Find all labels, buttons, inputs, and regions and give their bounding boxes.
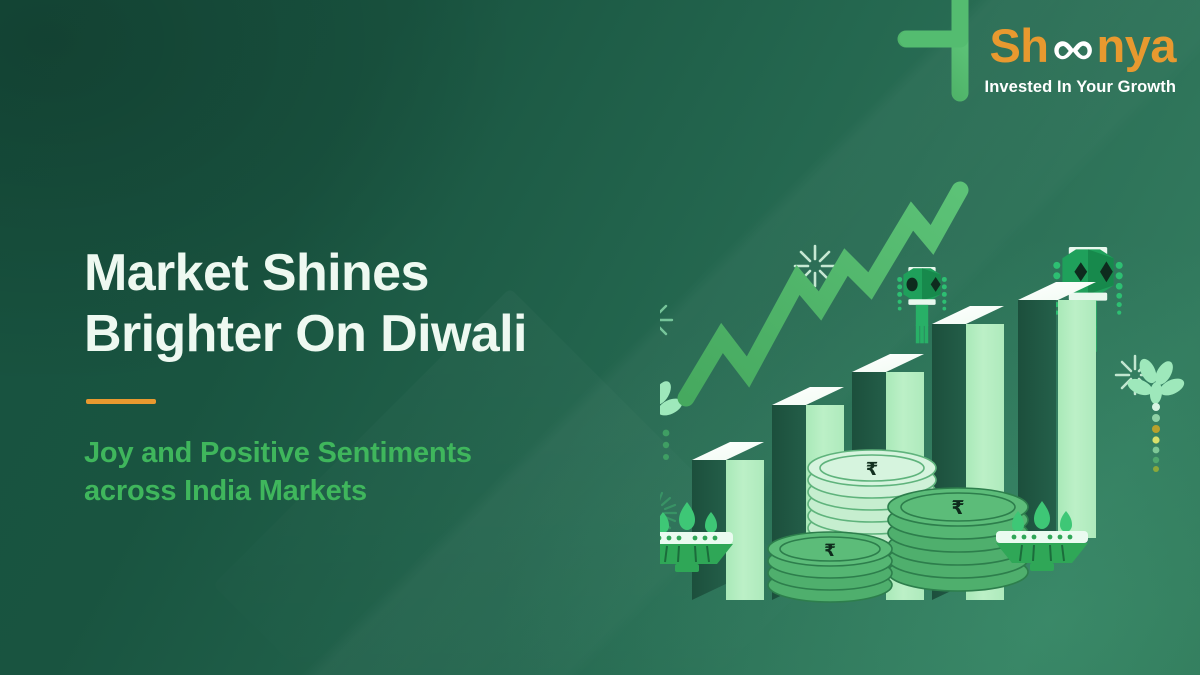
page-subtitle: Joy and Positive Sentiments across India… xyxy=(84,434,644,511)
rupee-symbol-tall: ₹ xyxy=(866,459,879,480)
title-divider xyxy=(86,399,156,404)
page-title: Market Shines Brighter On Diwali xyxy=(84,243,644,365)
firework-flower-right xyxy=(1125,356,1186,472)
coin-stack-short: ₹ xyxy=(768,532,892,602)
logo-prefix-text: Sh xyxy=(989,22,1048,69)
bar-1 xyxy=(692,442,764,600)
brand-logo[interactable]: Sh nya Invested In Your Growth xyxy=(985,22,1176,97)
rupee-symbol-short: ₹ xyxy=(824,541,836,561)
bar-5 xyxy=(1018,282,1096,556)
brand-tagline: Invested In Your Growth xyxy=(985,78,1176,97)
logo-wordmark: Sh nya xyxy=(985,22,1176,69)
logo-suffix-text: nya xyxy=(1097,22,1177,69)
sparkle-left xyxy=(660,300,672,340)
diwali-market-banner: Sh nya Invested In Your Growth Market Sh… xyxy=(0,0,1200,675)
illustration-growth-chart: ₹ ₹ xyxy=(660,0,1200,675)
rupee-symbol-medium: ₹ xyxy=(951,497,964,519)
hero-copy: Market Shines Brighter On Diwali Joy and… xyxy=(84,243,644,511)
infinity-icon xyxy=(1050,36,1096,66)
